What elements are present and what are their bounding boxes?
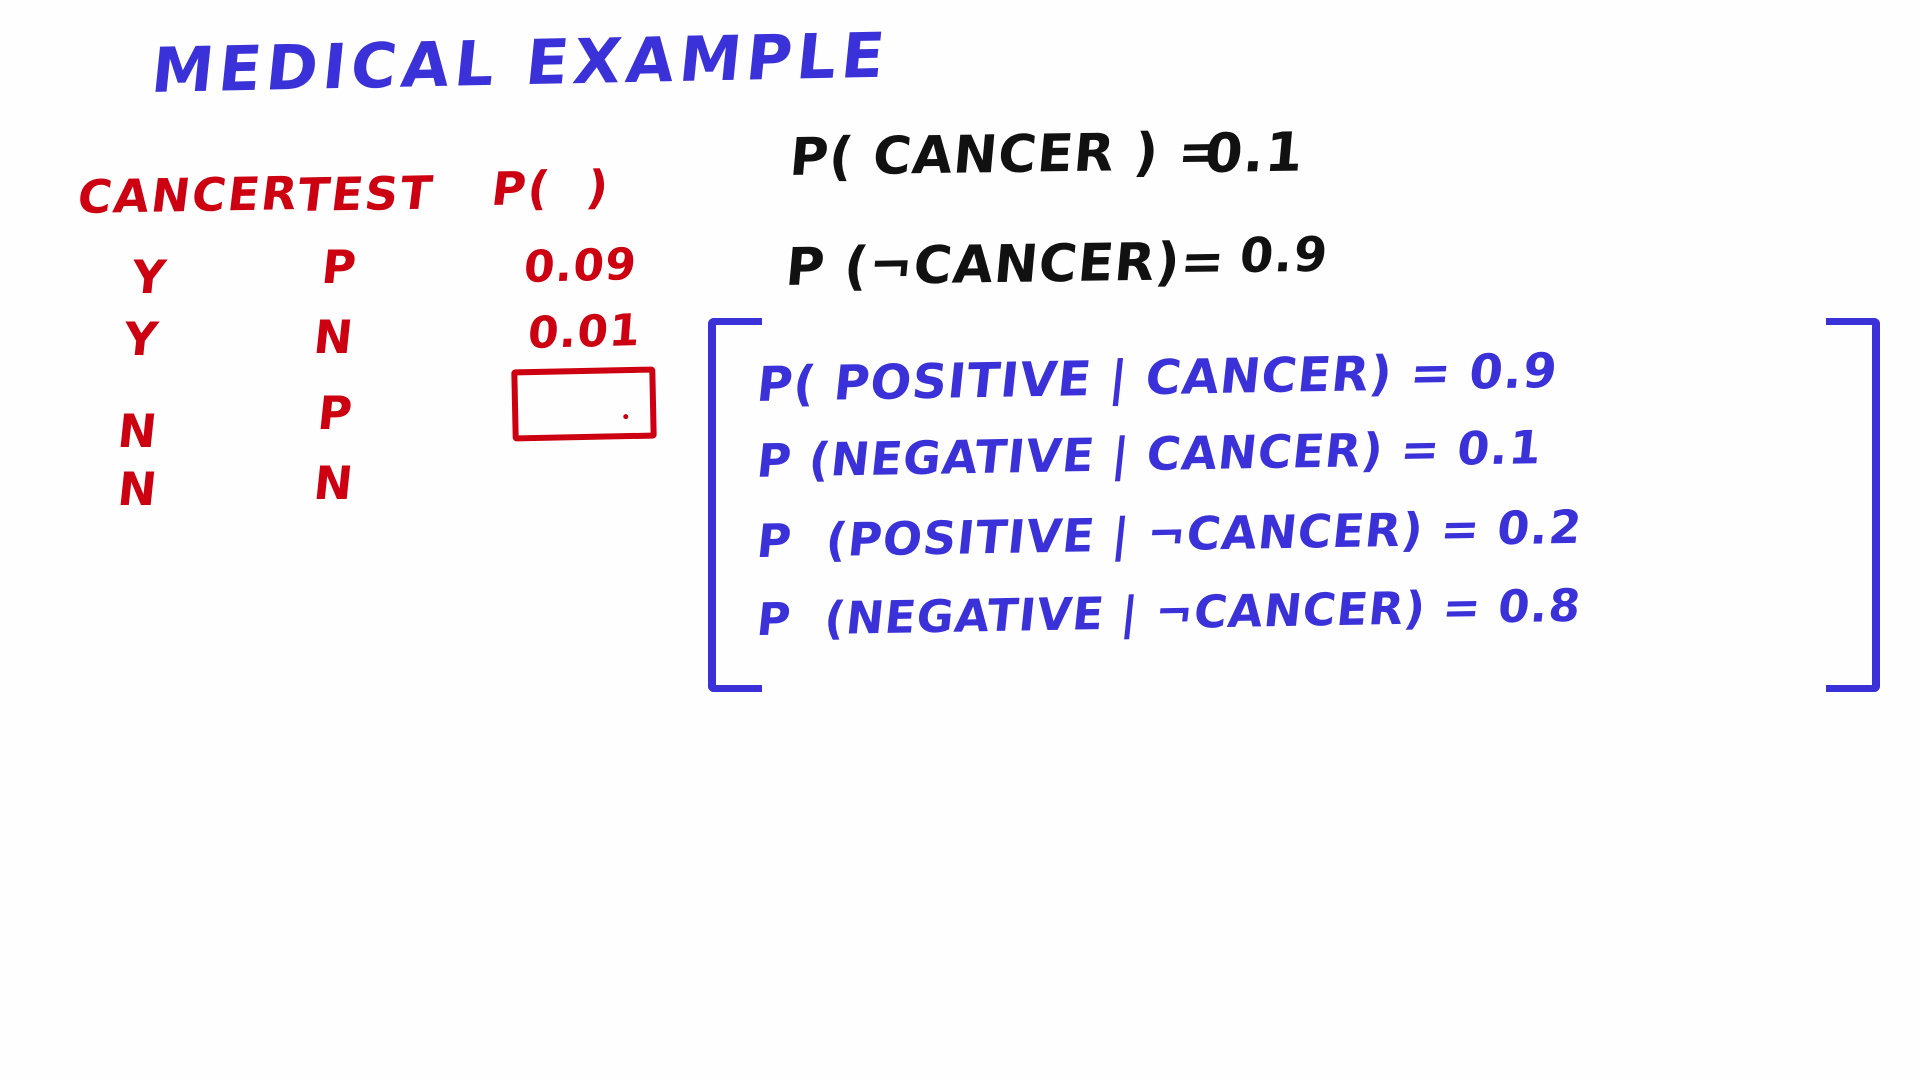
- table-row: N: [311, 456, 356, 510]
- whiteboard-canvas: MEDICAL EXAMPLE CANCER TEST P( ) Y Y N N…: [0, 0, 1920, 1080]
- conditional-row: P (POSITIVE | ¬CANCER) = 0.2: [758, 496, 1828, 572]
- right-bracket: [1826, 318, 1880, 692]
- conditional-positive-given-not-cancer: P (POSITIVE | ¬CANCER) = 0.2: [754, 500, 1585, 568]
- table-row: N: [311, 310, 356, 364]
- conditional-negative-given-cancer: P (NEGATIVE | CANCER) = 0.1: [754, 420, 1545, 488]
- table-row: Y: [129, 250, 169, 304]
- empty-answer-box[interactable]: [511, 367, 656, 442]
- prior-not-cancer-expression: P (¬CANCER)=: [783, 232, 1228, 298]
- table-row: 0.01: [526, 305, 643, 359]
- page-title: MEDICAL EXAMPLE: [148, 19, 892, 107]
- conditional-row: P (NEGATIVE | ¬CANCER) = 0.8: [758, 574, 1828, 650]
- left-bracket: [708, 318, 762, 692]
- table-row: 0.09: [522, 239, 639, 293]
- prior-cancer-value: 0.1: [1202, 121, 1307, 185]
- table-header-test: TEST: [295, 166, 437, 222]
- table-row: N: [115, 462, 160, 516]
- table-row: Y: [121, 312, 161, 366]
- prior-cancer-expression: P( CANCER ) =: [787, 122, 1225, 188]
- table-header-cancer: CANCER: [75, 166, 303, 224]
- table-row: P: [319, 240, 359, 294]
- conditional-negative-given-not-cancer: P (NEGATIVE | ¬CANCER) = 0.8: [754, 578, 1583, 645]
- conditional-positive-given-cancer: P( POSITIVE | CANCER) = 0.9: [754, 343, 1560, 413]
- table-header-probability: P( ): [489, 160, 614, 216]
- conditional-probability-block: P( POSITIVE | CANCER) = 0.9 P (NEGATIVE …: [700, 318, 1880, 678]
- table-row: P: [315, 386, 355, 440]
- conditional-row: P (NEGATIVE | CANCER) = 0.1: [758, 416, 1828, 492]
- prior-not-cancer-value: 0.9: [1237, 227, 1330, 284]
- conditional-row: P( POSITIVE | CANCER) = 0.9: [758, 340, 1828, 416]
- table-row: N: [115, 404, 160, 458]
